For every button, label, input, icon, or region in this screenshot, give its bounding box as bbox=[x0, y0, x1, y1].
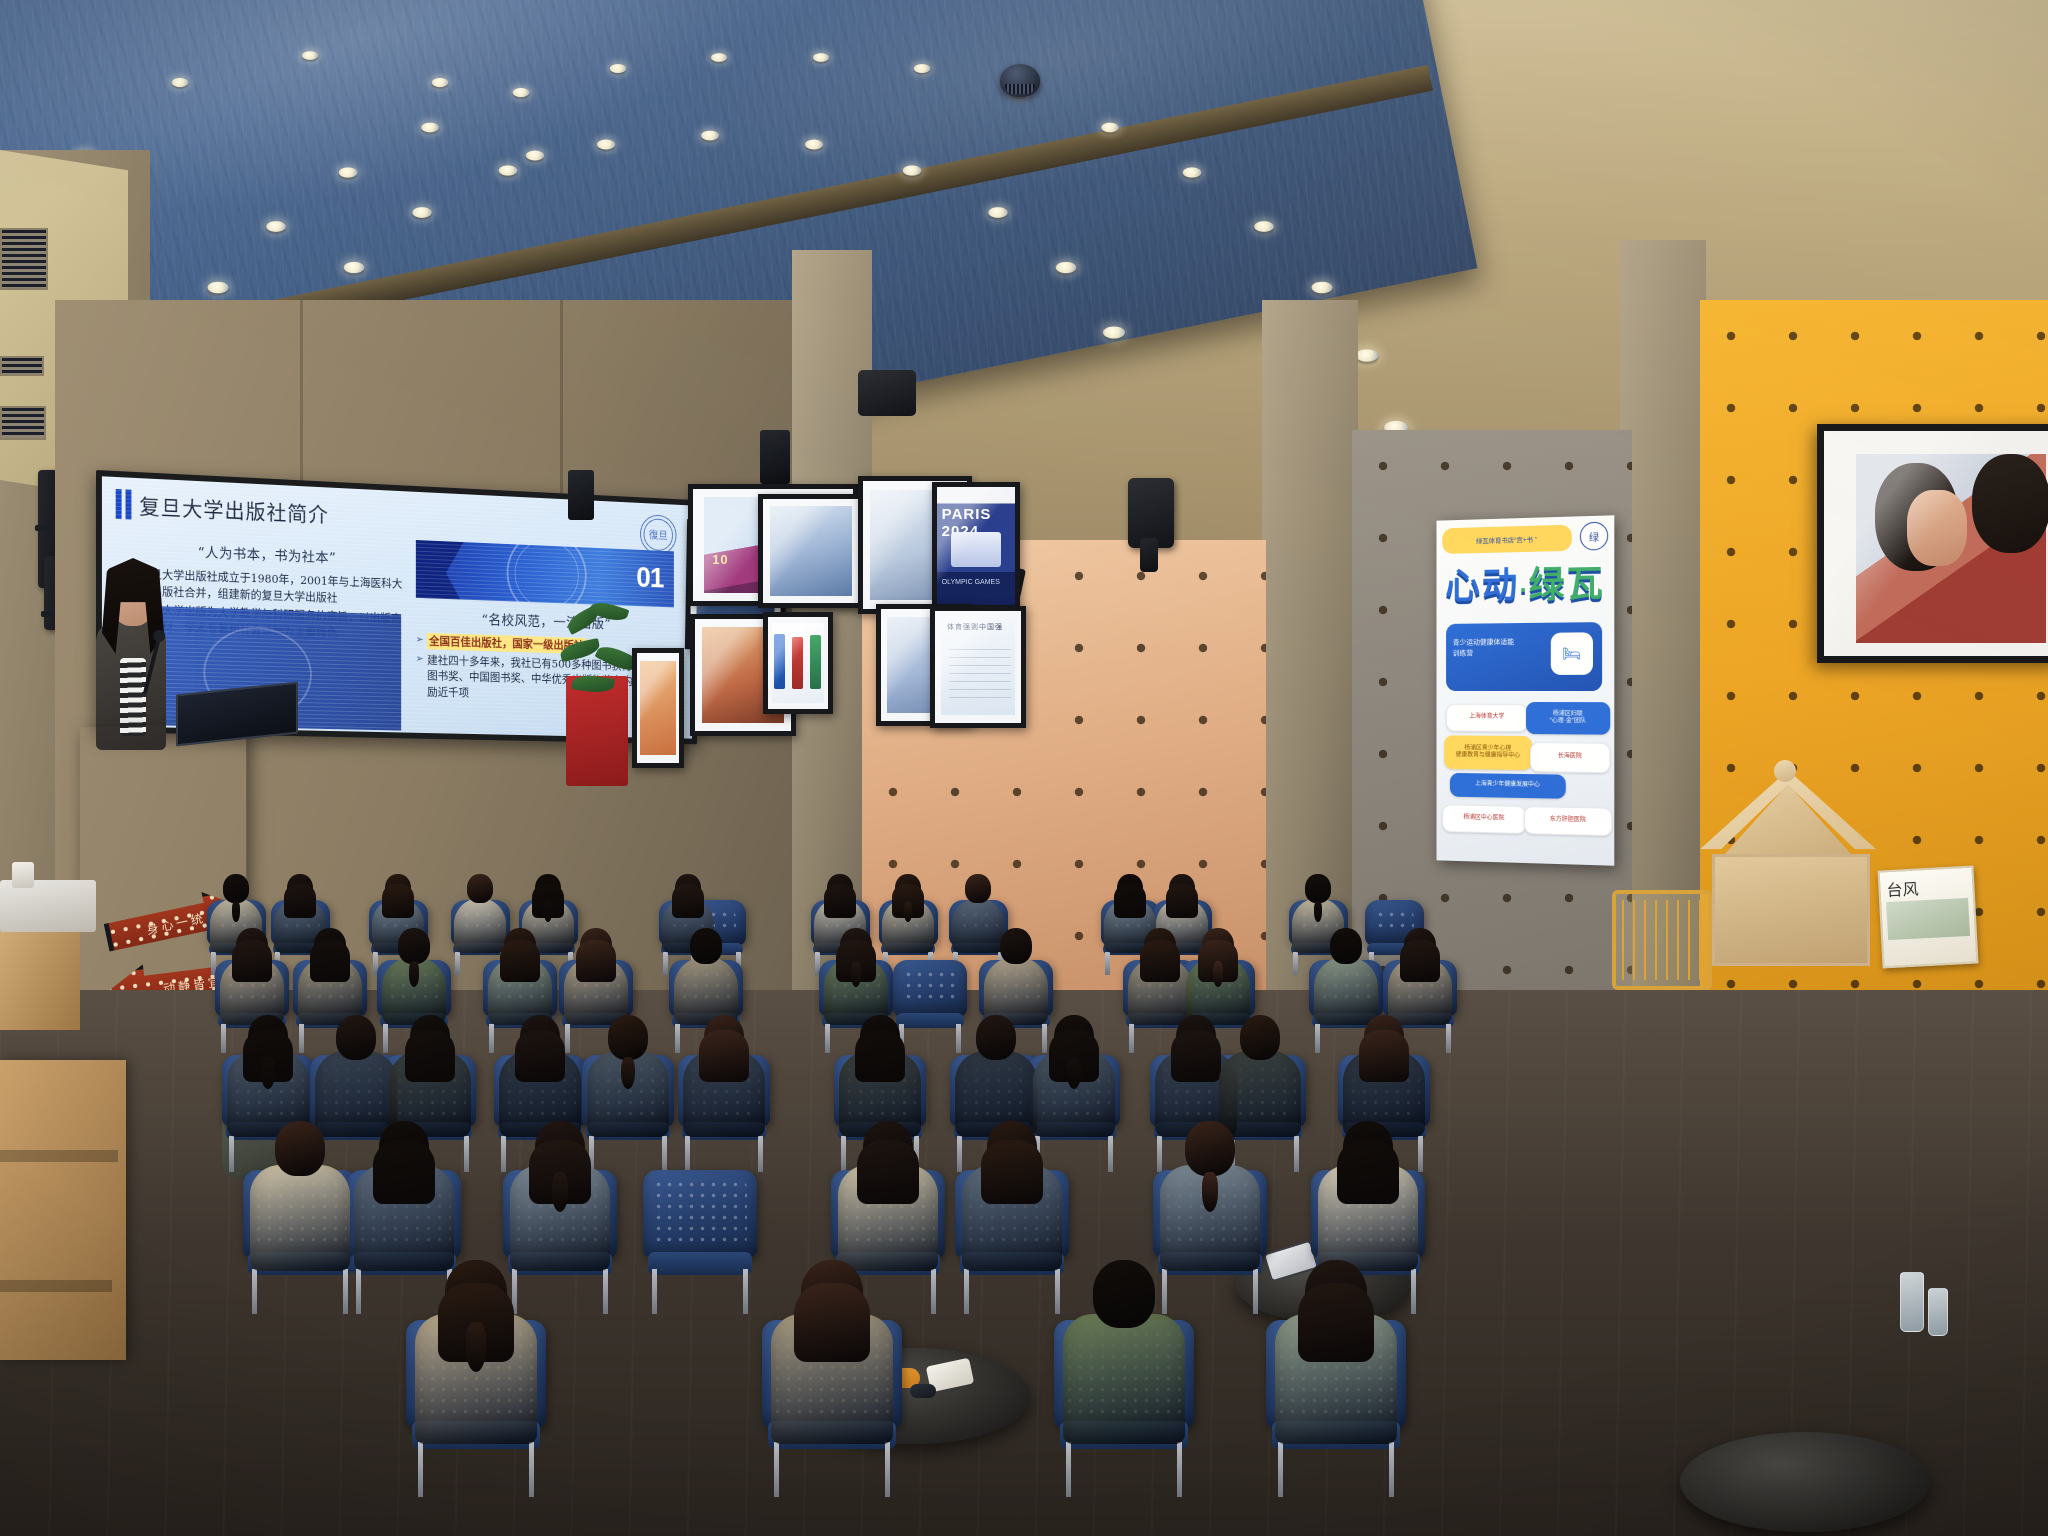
ceiling-spotlight-icon bbox=[805, 139, 823, 149]
ceiling-spotlight-icon bbox=[1356, 350, 1378, 362]
ceiling-spotlight-icon bbox=[421, 123, 439, 133]
ceiling-spotlight-icon bbox=[1183, 167, 1202, 177]
poster-subtitle-box: 青少运动健康体适能 训练营 🛏 bbox=[1446, 622, 1602, 691]
poster-bed-icon: 🛏 bbox=[1551, 632, 1593, 675]
person-ponytail bbox=[621, 1057, 635, 1090]
person-head bbox=[1185, 1121, 1235, 1177]
table-item bbox=[12, 862, 34, 888]
person-torso bbox=[1063, 1314, 1186, 1444]
person-head bbox=[690, 928, 722, 964]
event-photo-scene: 复旦大学出版社简介 復旦 “人为书本，书为社本” ➢ 复旦大学出版社成立于198… bbox=[0, 0, 2048, 1536]
person-head bbox=[1093, 1260, 1154, 1328]
table-keys bbox=[910, 1384, 936, 1398]
person-long-hair bbox=[1140, 940, 1180, 981]
person-head bbox=[398, 928, 430, 964]
track-spotlight-head bbox=[1140, 538, 1158, 572]
glass-glare bbox=[1824, 431, 2048, 656]
plant-leaf bbox=[559, 638, 601, 662]
chair-back bbox=[643, 1170, 756, 1258]
audience-person bbox=[962, 1121, 1062, 1282]
person-long-hair bbox=[373, 1140, 435, 1204]
poster-badge: 杨浦区青少年心理 健康教育与健康指导中心 bbox=[1444, 735, 1532, 770]
person-long-hair bbox=[857, 1140, 919, 1204]
shelf-body bbox=[1712, 854, 1870, 966]
audience-person bbox=[415, 1260, 538, 1458]
person-long-hair bbox=[405, 1030, 455, 1082]
chair-perforation bbox=[653, 1179, 746, 1246]
person-long-hair bbox=[515, 1030, 565, 1082]
audience-person bbox=[1275, 1260, 1398, 1458]
person-long-hair bbox=[576, 940, 616, 981]
person-long-hair bbox=[1298, 1283, 1374, 1362]
poster-subtitle2: 训练营 bbox=[1453, 648, 1543, 660]
ceiling-spotlight-icon bbox=[267, 221, 287, 232]
person-ponytail bbox=[466, 1322, 487, 1371]
person-long-hair bbox=[382, 884, 414, 917]
audience-chair[interactable] bbox=[643, 1170, 756, 1312]
plant-leaf bbox=[571, 673, 615, 695]
book-title: 台风 bbox=[1886, 875, 1919, 901]
wire-basket-cart bbox=[1612, 890, 1712, 990]
shelf-knob-icon bbox=[1774, 760, 1796, 782]
person-head bbox=[467, 874, 493, 903]
cafe-table bbox=[1680, 1432, 1930, 1532]
person-head bbox=[1000, 928, 1032, 964]
ceiling-spotlight-icon bbox=[1101, 123, 1119, 133]
bench-seam bbox=[0, 1280, 112, 1292]
framed-photo bbox=[758, 494, 864, 608]
ceiling-spotlight-icon bbox=[172, 78, 189, 87]
person-torso bbox=[250, 1165, 350, 1271]
smoke-detector-icon bbox=[1000, 64, 1040, 97]
poster-badge: 杨浦区妇联 “心理·金”团队 bbox=[1526, 702, 1610, 735]
audience-person bbox=[683, 1015, 764, 1146]
poster-subtitle-wrap: 青少运动健康体适能 训练营 bbox=[1453, 637, 1543, 660]
poster-hero-left: 心动 bbox=[1445, 565, 1519, 607]
person-ponytail bbox=[1067, 1057, 1081, 1090]
wooden-bench-left bbox=[0, 1060, 126, 1360]
xindong-lvwa-poster: 绿瓦体育书店“宫+书 ” 绿 心动·绿瓦 青少运动健康体适能 训练营 🛏 上海体… bbox=[1436, 515, 1614, 865]
poster-subtitle: 青少运动健康体适能 bbox=[1453, 637, 1543, 649]
person-long-hair bbox=[1400, 940, 1440, 981]
audience-person bbox=[771, 1260, 894, 1458]
poster-top-pill: 绿瓦体育书店“宫+书 ” bbox=[1442, 525, 1572, 554]
ceiling-spotlight-icon bbox=[597, 139, 615, 149]
person-long-hair bbox=[794, 1283, 870, 1362]
house-shaped-shelf bbox=[1700, 770, 1876, 960]
ceiling-spotlight-icon bbox=[988, 207, 1007, 218]
person-long-hair bbox=[824, 884, 856, 917]
calligraphy-frame: 体育强则中国强 bbox=[930, 606, 1026, 728]
person-head bbox=[1240, 1015, 1281, 1060]
wall-vent-icon bbox=[0, 356, 44, 376]
audience-person bbox=[354, 1121, 454, 1282]
poster-badge: 上海体育大学 bbox=[1446, 704, 1528, 732]
audience-person bbox=[1318, 1121, 1418, 1282]
poster-badge: 杨浦区中心医院 bbox=[1442, 804, 1526, 834]
person-long-hair bbox=[1337, 1140, 1399, 1204]
poster-hero-right: 绿瓦 bbox=[1529, 563, 1605, 606]
person-head bbox=[608, 1015, 649, 1060]
poster-badge: 长海医院 bbox=[1530, 742, 1610, 773]
audience-person bbox=[510, 1121, 610, 1282]
wall-speaker-icon bbox=[760, 430, 790, 484]
book-display-stand: 台风 bbox=[1878, 866, 1979, 969]
ceiling-spotlight-icon bbox=[302, 51, 318, 60]
ceiling-spotlight-icon bbox=[512, 88, 529, 97]
water-bottle bbox=[1900, 1272, 1924, 1332]
person-head bbox=[223, 874, 249, 903]
person-long-hair bbox=[500, 940, 540, 981]
chair-back bbox=[893, 960, 966, 1017]
framed-photo-mat bbox=[1824, 431, 2048, 656]
person-long-hair bbox=[699, 1030, 749, 1082]
person-head bbox=[976, 1015, 1017, 1060]
audience-person bbox=[838, 1121, 938, 1282]
chair-leg bbox=[743, 1269, 748, 1313]
person-ponytail bbox=[261, 1057, 275, 1090]
person-long-hair bbox=[1114, 884, 1146, 917]
person-long-hair bbox=[284, 884, 316, 917]
speaker-striped-shirt bbox=[120, 658, 146, 736]
poster-hero-title: 心动·绿瓦 bbox=[1436, 554, 1614, 609]
water-bottle bbox=[1928, 1288, 1948, 1336]
person-head bbox=[1330, 928, 1362, 964]
person-head bbox=[336, 1015, 377, 1060]
bench-seam bbox=[0, 1150, 118, 1162]
person-long-hair bbox=[672, 884, 704, 917]
ceiling-spotlight-icon bbox=[701, 131, 719, 141]
paris-2024-poster-frame: PARIS 2024 OLYMPIC GAMES bbox=[932, 482, 1020, 610]
ceiling-spotlight-icon bbox=[711, 53, 727, 62]
wall-speaker-icon bbox=[568, 470, 594, 520]
poster-badge: 上海青少年健康发展中心 bbox=[1450, 773, 1566, 799]
wall-vent-icon bbox=[0, 406, 46, 440]
ceiling-spotlight-icon bbox=[1254, 221, 1274, 232]
person-long-hair bbox=[232, 940, 272, 981]
audience-person bbox=[1160, 1121, 1260, 1282]
poster-hero-dot: · bbox=[1519, 578, 1528, 602]
ceiling-spotlight-icon bbox=[813, 53, 829, 62]
person-long-hair bbox=[1171, 1030, 1221, 1082]
audience-person bbox=[882, 874, 934, 958]
wall-vent-icon bbox=[0, 228, 48, 290]
framed-athlete-photo bbox=[1817, 424, 2048, 663]
person-long-hair bbox=[310, 940, 350, 981]
framed-photo bbox=[632, 648, 684, 768]
ceiling-spotlight-icon bbox=[338, 167, 357, 177]
book-cover-art bbox=[1886, 898, 1970, 940]
person-long-hair bbox=[1359, 1030, 1409, 1082]
audience-person bbox=[1063, 1260, 1186, 1458]
person-long-hair bbox=[981, 1140, 1043, 1204]
ceiling-projector-icon bbox=[858, 370, 916, 416]
person-long-hair bbox=[1166, 884, 1198, 917]
person-head bbox=[275, 1121, 325, 1177]
poster-badge: 东方肝胆医院 bbox=[1524, 806, 1612, 836]
ceiling-spotlight-icon bbox=[903, 165, 922, 175]
chair-seat bbox=[648, 1252, 752, 1275]
person-head bbox=[1305, 874, 1331, 903]
framed-poster bbox=[763, 612, 833, 714]
chair-leg bbox=[652, 1269, 657, 1313]
ceiling-spotlight-icon bbox=[343, 262, 364, 273]
person-long-hair bbox=[855, 1030, 905, 1082]
ceiling-spotlight-icon bbox=[432, 78, 449, 87]
person-head bbox=[965, 874, 991, 903]
chair-perforation bbox=[903, 969, 956, 1005]
audience-person bbox=[250, 1121, 350, 1282]
